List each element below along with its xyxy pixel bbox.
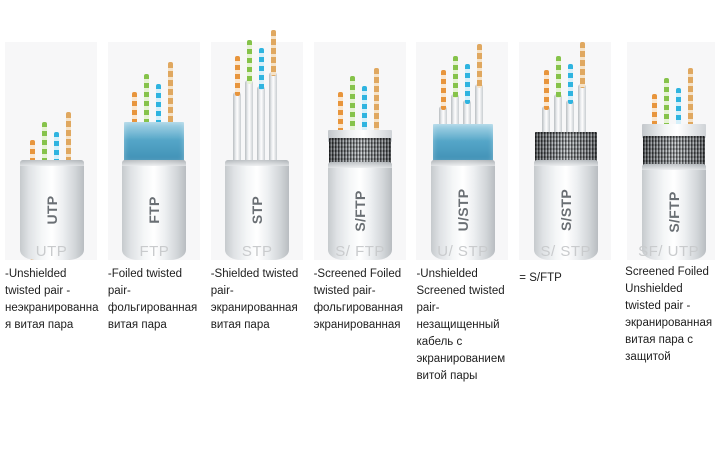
cable-graphic-s-stp: S/STP [514,42,617,260]
cable-graphic-sf-utp: S/FTP [622,42,720,260]
cable-column-utp: UTP UTP -Unshielded twisted pair - неэкр… [0,0,103,450]
jacket-rim [642,164,706,170]
wire-green [247,40,252,84]
jacket-label: S/FTP [352,190,368,231]
cable-graphic-utp: UTP [0,42,103,260]
cable-graphic-stp: STP [206,42,309,260]
cable-graphic-s-ftp: S/FTP [309,42,412,260]
jacket-rim [534,160,598,166]
cable-code-label: UTP [0,243,103,260]
cable-code-label: S/ FTP [309,243,412,260]
jacket-label: FTP [146,196,162,223]
cable-description: -Unshielded twisted pair - неэкранирован… [5,266,103,334]
wire-orange [235,56,240,96]
wire-tan [580,42,585,88]
cable-code-label: S/ STP [514,243,617,260]
cable-column-u-stp: U/STP U/ STP -Unshielded Screened twiste… [411,0,514,450]
cable-code-label: U/ STP [411,243,514,260]
cable-column-s-ftp: S/FTP S/ FTP -Screened Foiled twisted pa… [309,0,412,450]
jacket-label: UTP [44,196,60,225]
foil-shield [433,124,493,162]
pair-shield-sleeve [245,80,253,164]
wire-orange [441,70,446,110]
braid-shield [329,138,391,164]
jacket-label: S/FTP [666,191,682,232]
cable-description: -Shielded twisted pair-экранированная ви… [211,266,309,334]
pair-shield-sleeve [269,72,277,164]
cable-column-stp: STP STP -Shielded twisted pair-экраниров… [206,0,309,450]
cable-graphic-u-stp: U/STP [411,42,514,260]
jacket-rim [328,162,392,168]
wire-blue [259,48,264,90]
cable-column-sf-utp: S/FTP SF/ UTP Screened Foiled Unshielded… [617,0,720,450]
pair-shield-sleeve [233,92,241,164]
cable-graphic-ftp: FTP [103,42,206,260]
cable-description: = S/FTP [519,270,617,287]
wire-bundle [231,4,283,164]
jacket-rim [20,160,84,166]
cable-columns: UTP UTP -Unshielded twisted pair - неэкр… [0,0,720,450]
wire-tan [477,44,482,88]
jacket-rim [431,160,495,166]
cable-column-s-stp: S/STP S/ STP = S/FTP [514,0,617,450]
cable-code-label: SF/ UTP [617,243,720,260]
wire-blue [465,64,470,104]
wire-green [556,56,561,98]
cable-code-label: FTP [103,243,206,260]
wire-green [453,56,458,98]
foil-shield [124,122,184,162]
cable-description: -Screened Foiled twisted pair-фольгирова… [314,266,412,334]
jacket-rim [122,160,186,166]
jacket-label: S/STP [558,189,574,231]
braid-shield [535,132,597,162]
jacket-label: U/STP [455,189,471,232]
cable-description: Screened Foiled Unshielded twisted pair … [625,264,720,366]
jacket-label: STP [249,196,265,224]
cable-types-diagram: UTP UTP -Unshielded twisted pair - неэкр… [0,0,720,450]
wire-blue [568,64,573,104]
braid-shield [643,136,705,166]
cable-description: -Foiled twisted pair-фольгированная вита… [108,266,206,334]
pair-shield-sleeve [257,86,265,164]
cable-description: -Unshielded Screened twisted pair-незащи… [416,266,514,385]
wire-orange [544,70,549,110]
wire-tan [271,30,276,76]
cable-code-label: STP [206,243,309,260]
jacket-rim [225,160,289,166]
cable-column-ftp: FTP FTP -Foiled twisted pair-фольгирован… [103,0,206,450]
